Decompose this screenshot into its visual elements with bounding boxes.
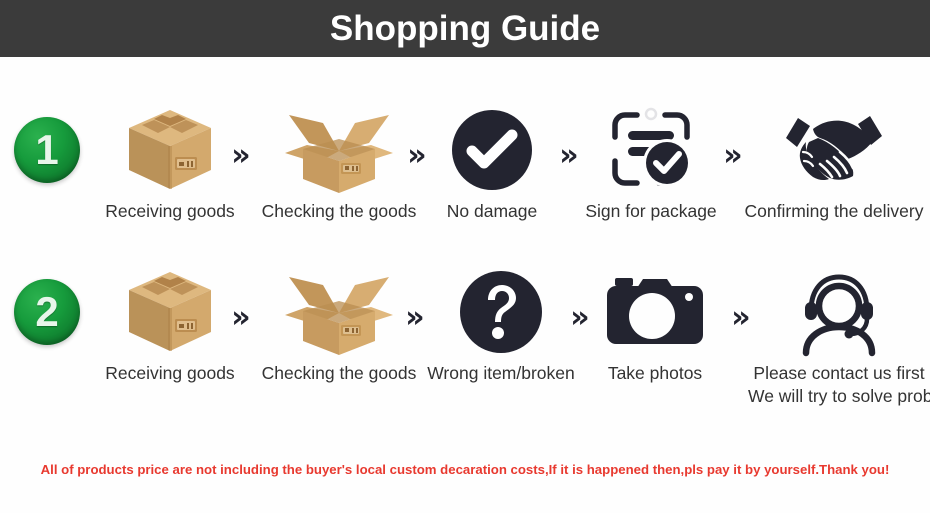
step-1-badge-number: 1 [35,129,58,171]
closed-cardboard-box-icon [95,100,245,200]
row-1-step-4: Sign for package [585,100,717,250]
row-1-step-1: Receiving goods [95,100,245,250]
handshake-glyph [782,108,886,192]
headset-support-agent-icon [748,262,930,362]
camera-icon [592,262,718,362]
step-2-badge-cell: 2 [12,262,82,412]
check-circle-icon [432,100,552,200]
row-1-step-3: No damage [432,100,552,250]
row-1-step-4-label: Sign for package [585,200,717,222]
open-cardboard-box-icon [258,100,420,200]
step-2-badge-wrap: 2 [12,262,82,362]
double-chevron-right-icon: » [224,138,258,174]
check-circle-glyph [450,108,534,192]
step-1-badge-wrap: 1 [12,100,82,200]
row-2-step-5-label: Please contact us first We will try to s… [748,362,930,408]
open-cardboard-box-icon [258,262,420,362]
row-1-step-3-label: No damage [432,200,552,222]
row-2-step-5: Please contact us first We will try to s… [748,262,930,412]
row-1-step-5: Confirming the delivery [738,100,930,250]
row-1-step-5-label: Confirming the delivery [738,200,930,222]
row-2-step-2: Checking the goods [258,262,420,412]
row-1-step-2: Checking the goods [258,100,420,250]
step-1-badge-cell: 1 [12,100,82,250]
step-2-badge-number: 2 [35,291,58,333]
closed-cardboard-box-icon [95,262,245,362]
row-2-step-1: Receiving goods [95,262,245,412]
headset-support-agent-glyph [794,269,884,355]
question-mark-circle-icon [425,262,577,362]
row-2-step-4-label: Take photos [592,362,718,384]
open-cardboard-box-glyph [283,105,395,195]
row-2-step-2-label: Checking the goods [258,362,420,384]
camera-glyph [603,272,707,352]
step-1-badge: 1 [14,117,80,183]
clipboard-check-icon [585,100,717,200]
row-2-step-4: Take photos [592,262,718,412]
row-2-step-1-label: Receiving goods [95,362,245,384]
guide-row-2: 2 [0,262,930,412]
question-mark-circle-glyph [458,269,544,355]
row-1-step-1-label: Receiving goods [95,200,245,222]
row-2-step-5-label-line2: We will try to solve problem [748,385,930,408]
header-bar: Shopping Guide [0,0,930,57]
double-chevron-right-icon: » [552,138,586,174]
shopping-guide-infographic: Shopping Guide 1 [0,0,930,513]
step-2-badge: 2 [14,279,80,345]
handshake-icon [738,100,930,200]
customs-disclaimer-note: All of products price are not including … [0,462,930,477]
guide-row-1: 1 [0,100,930,250]
row-2-step-3-label: Wrong item/broken [425,362,577,384]
row-2-step-3: Wrong item/broken [425,262,577,412]
open-cardboard-box-glyph [283,267,395,357]
double-chevron-right-icon: » [224,300,258,336]
double-chevron-right-icon: » [400,138,434,174]
row-2-step-5-label-line1: Please contact us first [748,362,930,385]
row-1-step-2-label: Checking the goods [258,200,420,222]
closed-cardboard-box-glyph [126,108,214,192]
clipboard-check-glyph [607,107,695,193]
page-title: Shopping Guide [330,11,600,46]
closed-cardboard-box-glyph [126,270,214,354]
